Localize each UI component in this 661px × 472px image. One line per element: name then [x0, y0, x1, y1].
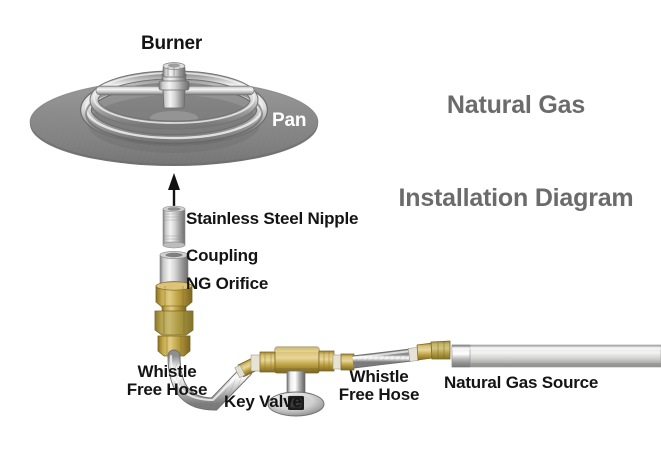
stainless-steel-nipple-graphic	[163, 206, 185, 248]
page-title: Natural Gas Installation Diagram	[380, 27, 652, 277]
label-whistle-free-hose-left: Whistle Free Hose	[118, 363, 216, 400]
label-ng-orifice: NG Orifice	[186, 275, 268, 293]
label-natural-gas-source: Natural Gas Source	[444, 374, 598, 392]
gas-flow-arrow-graphic	[168, 173, 180, 208]
label-pan: Pan	[272, 111, 306, 132]
label-coupling: Coupling	[186, 247, 258, 265]
diagram-canvas: Natural Gas Installation Diagram Burner …	[0, 0, 661, 472]
natural-gas-source-graphic	[452, 345, 661, 367]
label-burner: Burner	[141, 34, 202, 55]
title-line-1: Natural Gas	[380, 90, 652, 121]
label-whistle-free-hose-right: Whistle Free Hose	[330, 368, 428, 405]
label-key-valve: Key Valve	[224, 393, 302, 411]
title-line-2: Installation Diagram	[380, 183, 652, 214]
label-stainless-steel-nipple: Stainless Steel Nipple	[186, 210, 358, 228]
whistle-free-hose-right-graphic	[353, 341, 450, 362]
burner-graphic	[86, 63, 262, 153]
